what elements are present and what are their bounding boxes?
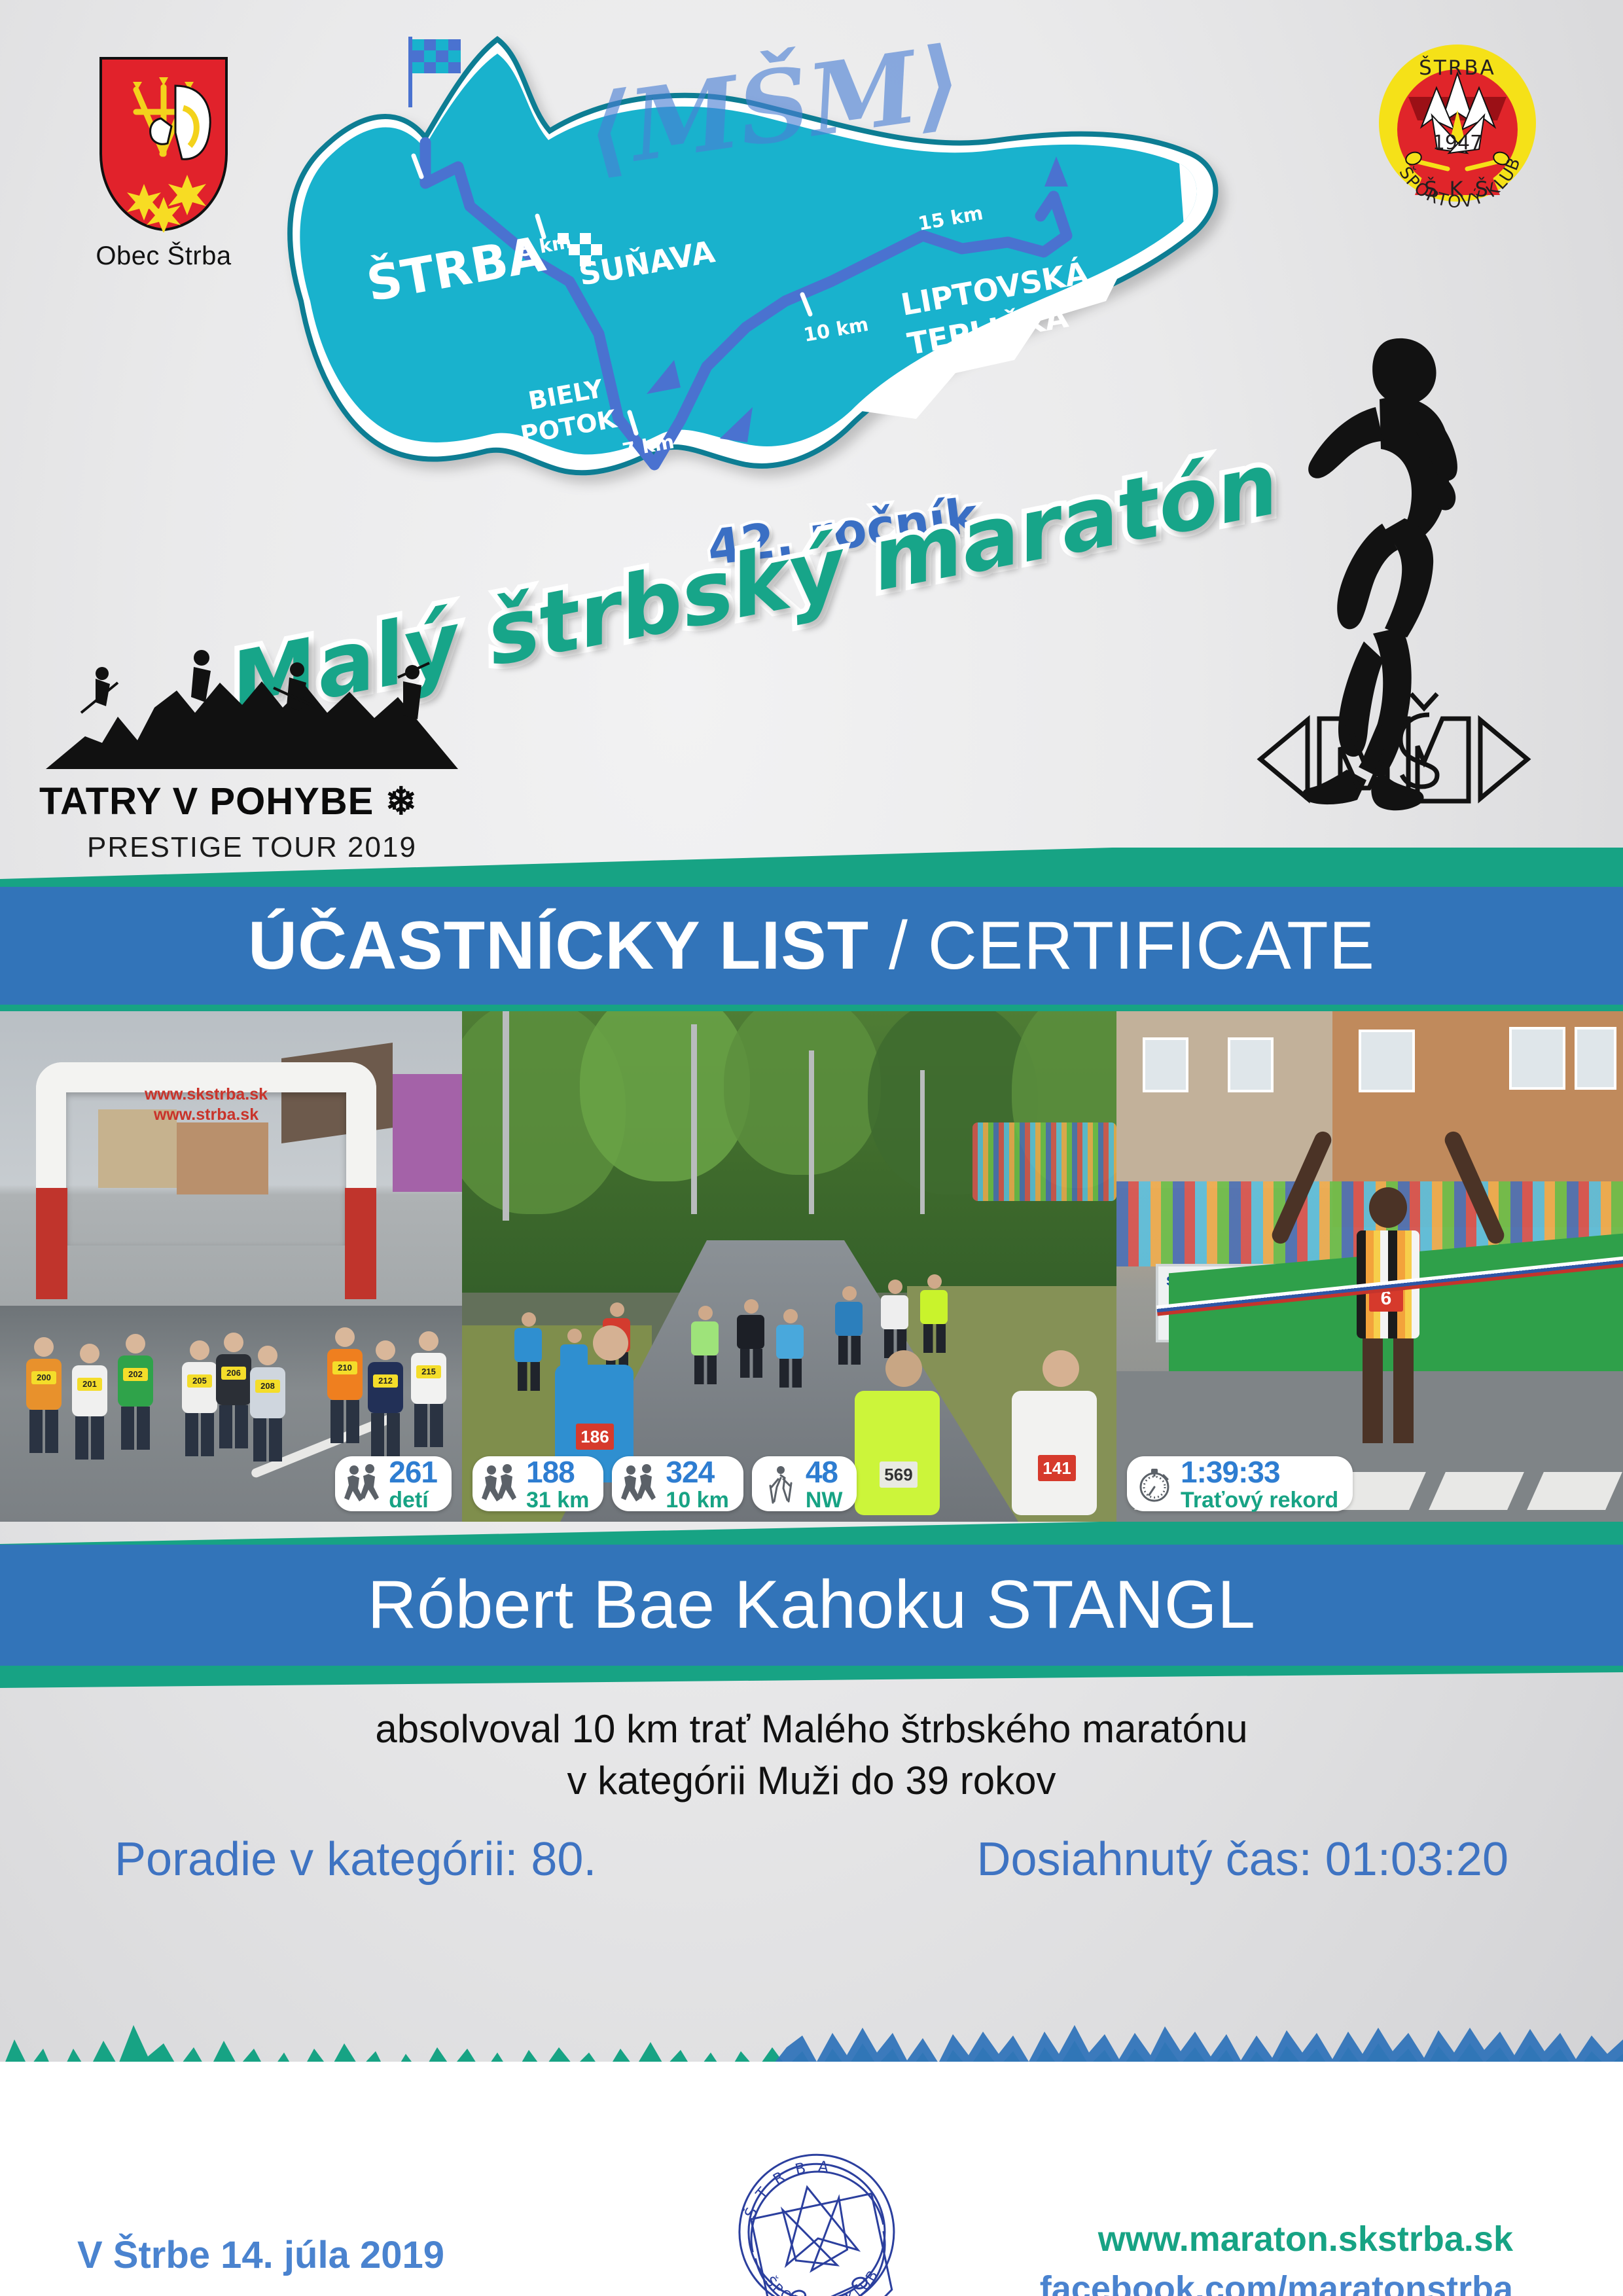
tatry-v-pohybe-logo: TATRY V POHYBE ❄ PRESTIGE TOUR 2019 <box>39 645 465 864</box>
photo-road-race: 569 141 186 <box>462 1011 1116 1522</box>
footer-links: www.maraton.skstrba.sk facebook.com/mara… <box>1040 2219 1513 2296</box>
stat-value: 324 <box>666 1457 728 1487</box>
certificate-title-en: / CERTIFICATE <box>869 908 1375 984</box>
photo-kids-start: www.skstrba.sk www.strba.sk 200 201 202 … <box>0 1011 462 1522</box>
photo-strip: www.skstrba.sk www.strba.sk 200 201 202 … <box>0 1005 1623 1522</box>
stat-pill-row-left: 261 detí <box>335 1456 452 1511</box>
race-route-map: ⟨MŠM⟩ <box>262 20 1243 517</box>
stat-label: 31 km <box>526 1489 589 1511</box>
stat-value: 188 <box>526 1457 589 1487</box>
stat-label: 10 km <box>666 1489 728 1511</box>
msm-runner-logo <box>1224 327 1564 825</box>
stat-pill-row-middle: 188 31 km 324 10 km <box>473 1456 857 1511</box>
stat-label: NW <box>806 1489 843 1511</box>
arch-url: www.skstrba.sk www.strba.sk <box>98 1085 314 1124</box>
achievement-line-2: v kategórii Muži do 39 rokov <box>0 1755 1623 1806</box>
badge-top-text: ŠTRBA <box>1419 56 1496 80</box>
mountain-silhouette-icon <box>39 645 465 776</box>
stamp-arc-text: ŠPORTOVÝ KLUB <box>760 2251 887 2296</box>
certificate-title: ÚČASTNÍCKY LIST / CERTIFICATE <box>248 907 1375 985</box>
tour-name: TATRY V POHYBE ❄ <box>39 779 465 823</box>
stat-value: 261 <box>389 1457 437 1487</box>
runners-icon <box>344 1463 381 1504</box>
participant-name: Róbert Bae Kahoku STANGL <box>368 1566 1256 1644</box>
stat-label: Traťový rekord <box>1181 1489 1338 1511</box>
stat-label: detí <box>389 1489 437 1511</box>
finish-time: Dosiahnutý čas: 01:03:20 <box>976 1833 1508 1886</box>
category-rank: Poradie v kategórii: 80. <box>115 1833 596 1886</box>
runners-icon <box>621 1463 658 1504</box>
sks-club-badge-icon: ŠTRBA 1947 Š K Š ŠPORTOVÝ KLUB <box>1369 31 1546 208</box>
crest-caption: Obec Štrba <box>75 242 252 271</box>
footer-date: V Štrbe 14. júla 2019 <box>77 2233 444 2277</box>
edelweiss-icon: ❄ <box>385 780 418 823</box>
facebook-link[interactable]: facebook.com/maratonstrba <box>1040 2269 1513 2296</box>
stat-value: 1:39:33 <box>1181 1457 1338 1487</box>
website-link[interactable]: www.maraton.skstrba.sk <box>1040 2219 1513 2259</box>
achievement-line-1: absolvoval 10 km trať Malého štrbského m… <box>0 1703 1623 1755</box>
stat-pill-nordic-walking: 48 NW <box>752 1456 857 1511</box>
tour-subtitle: PRESTIGE TOUR 2019 <box>39 831 465 864</box>
photo-winner-finish: SLOVENSKÁ SPORITEĽŇA 6 <box>1116 1011 1623 1522</box>
winner-figure: 6 <box>1332 1187 1444 1443</box>
nordic-walking-icon <box>761 1463 798 1504</box>
runners-icon <box>482 1463 518 1504</box>
participant-name-banner: Róbert Bae Kahoku STANGL <box>0 1545 1623 1666</box>
obec-strba-crest-icon <box>98 56 229 232</box>
obec-strba-crest-block: Obec Štrba <box>75 56 252 271</box>
certificate-page: Obec Štrba <box>0 0 1623 2296</box>
sks-stamp-icon: 1947 Š K Š Š T R B A ŠPORTOVÝ KLUB <box>726 2140 910 2296</box>
stopwatch-icon <box>1136 1463 1173 1504</box>
stat-pill-row-right: 1:39:33 Traťový rekord <box>1127 1456 1353 1511</box>
certificate-title-sk: ÚČASTNÍCKY LIST <box>248 908 869 984</box>
stat-pill-course-record: 1:39:33 Traťový rekord <box>1127 1456 1353 1511</box>
stat-pill-31km: 188 31 km <box>473 1456 603 1511</box>
tour-name-text: TATRY V POHYBE <box>39 780 374 823</box>
certificate-banner: ÚČASTNÍCKY LIST / CERTIFICATE <box>0 887 1623 1005</box>
achievement-text: absolvoval 10 km trať Malého štrbského m… <box>0 1703 1623 1806</box>
stat-pill-kids: 261 detí <box>335 1456 452 1511</box>
hero-section: Obec Štrba <box>0 0 1623 880</box>
stat-value: 48 <box>806 1457 843 1487</box>
event-title-lockup: 42. ročník Malý štrbský maratón <box>196 497 1309 668</box>
teal-diagonal-divider-name-bottom <box>0 1666 1623 1688</box>
results-row: Poradie v kategórii: 80. Dosiahnutý čas:… <box>0 1833 1623 1886</box>
badge-year: 1947 <box>1433 132 1482 154</box>
stat-pill-10km: 324 10 km <box>612 1456 743 1511</box>
